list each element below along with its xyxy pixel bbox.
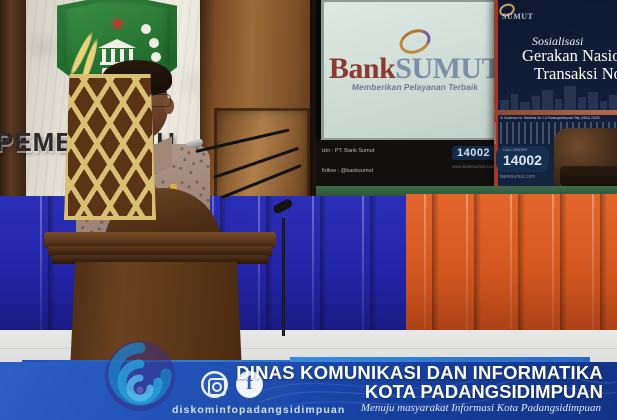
footer-title-line-2: KOTA PADANGSIDIMPUAN — [365, 381, 603, 403]
projection-screen: BankSUMUT Memberikan Pelayanan Terbaik — [324, 2, 506, 138]
footer-banner: f diskominfopadangsidimpuan DINAS KOMUNI… — [0, 354, 617, 420]
microphone-stand — [282, 218, 285, 336]
photo-screenshot: PEMERINTAH BankSUMUT Memberikan Pelayana… — [0, 0, 617, 420]
brand-word-bank: Bank — [329, 52, 395, 85]
podium-lattice-panel — [64, 74, 156, 220]
banner-rail — [494, 110, 617, 115]
badge-number: 14002 — [503, 152, 542, 168]
call-center-number: 14002 — [452, 146, 495, 160]
instagram-icon[interactable] — [201, 371, 228, 398]
slide-line-2: follow : @banksumut — [322, 168, 373, 174]
cotton-icon — [141, 24, 151, 34]
slide-line-1: izin : PT. Bank Sumut — [322, 148, 374, 154]
instagram-lens — [212, 382, 222, 392]
banner-call-badge: CALL CENTER 14002 — [496, 146, 549, 172]
sofa-base — [560, 166, 617, 186]
event-banner: SUMUT Sosialisasi Gerakan Nasional Trans… — [494, 0, 617, 188]
lattice-frame — [64, 74, 156, 220]
orange-table-skirt — [406, 194, 617, 338]
bank-sumut-wordmark: BankSUMUT — [324, 54, 506, 84]
brand-tagline: Memberikan Pelayanan Terbaik — [323, 82, 506, 92]
city-skyline-graphic — [494, 86, 617, 112]
banner-address: Jl. Sudirman no. Merdeka No 1-A Padangsi… — [500, 116, 600, 120]
bank-url: www.banksumut.com — [452, 164, 495, 169]
door-frame-left — [0, 0, 26, 214]
brand-word-sumut: SUMUT — [395, 52, 501, 85]
bank-sumut-logo: BankSUMUT Memberikan Pelayanan Terbaik — [324, 30, 506, 92]
footer-tagline: Menuju masyarakat Informasi Kota Padangs… — [361, 402, 601, 414]
banner-logo-text: SUMUT — [502, 12, 533, 21]
cotton-icon — [149, 38, 159, 48]
social-handle: diskominfopadangsidimpuan — [172, 404, 345, 416]
banner-title-line1: Gerakan Nasional — [522, 46, 617, 66]
building-roof — [98, 39, 136, 48]
banner-url: banksumut.com — [500, 174, 535, 180]
banner-title-line2: Transaksi Non — [534, 64, 617, 84]
wall-stain — [30, 40, 56, 54]
